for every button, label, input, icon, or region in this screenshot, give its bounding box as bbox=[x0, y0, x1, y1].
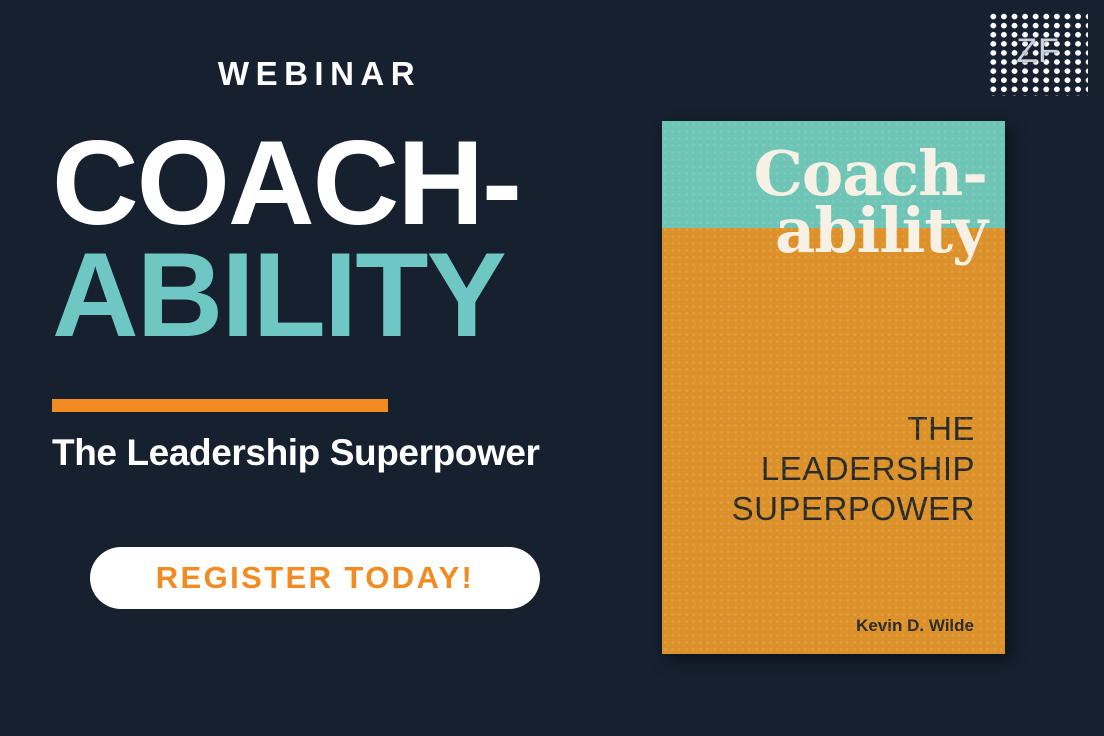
page-title: COACH- ABILITY bbox=[52, 128, 612, 351]
book-subtitle-line-3: SUPERPOWER bbox=[662, 489, 975, 529]
headline-line-1: COACH- bbox=[52, 128, 612, 240]
book-subtitle-line-1: THE bbox=[662, 409, 975, 449]
book-subtitle-line-2: LEADERSHIP bbox=[662, 449, 975, 489]
book-title-line-2: ability bbox=[662, 202, 987, 259]
zf-logo: ZF bbox=[988, 12, 1088, 96]
book-title: Coach- ability bbox=[662, 145, 987, 259]
book-cover-image: Coach- ability THE LEADERSHIP SUPERPOWER… bbox=[662, 121, 1005, 654]
page-subtitle: The Leadership Superpower bbox=[52, 432, 672, 475]
register-today-button[interactable]: REGISTER TODAY! bbox=[90, 547, 540, 609]
book-subtitle: THE LEADERSHIP SUPERPOWER bbox=[662, 409, 975, 529]
accent-divider bbox=[52, 399, 388, 412]
register-today-label: REGISTER TODAY! bbox=[156, 560, 475, 596]
eyebrow-label: WEBINAR bbox=[52, 57, 587, 90]
logo-text: ZF bbox=[988, 34, 1088, 68]
webinar-promo-banner: ZF WEBINAR COACH- ABILITY The Leadership… bbox=[0, 0, 1104, 736]
book-author: Kevin D. Wilde bbox=[662, 616, 974, 636]
headline-line-2: ABILITY bbox=[52, 240, 612, 352]
